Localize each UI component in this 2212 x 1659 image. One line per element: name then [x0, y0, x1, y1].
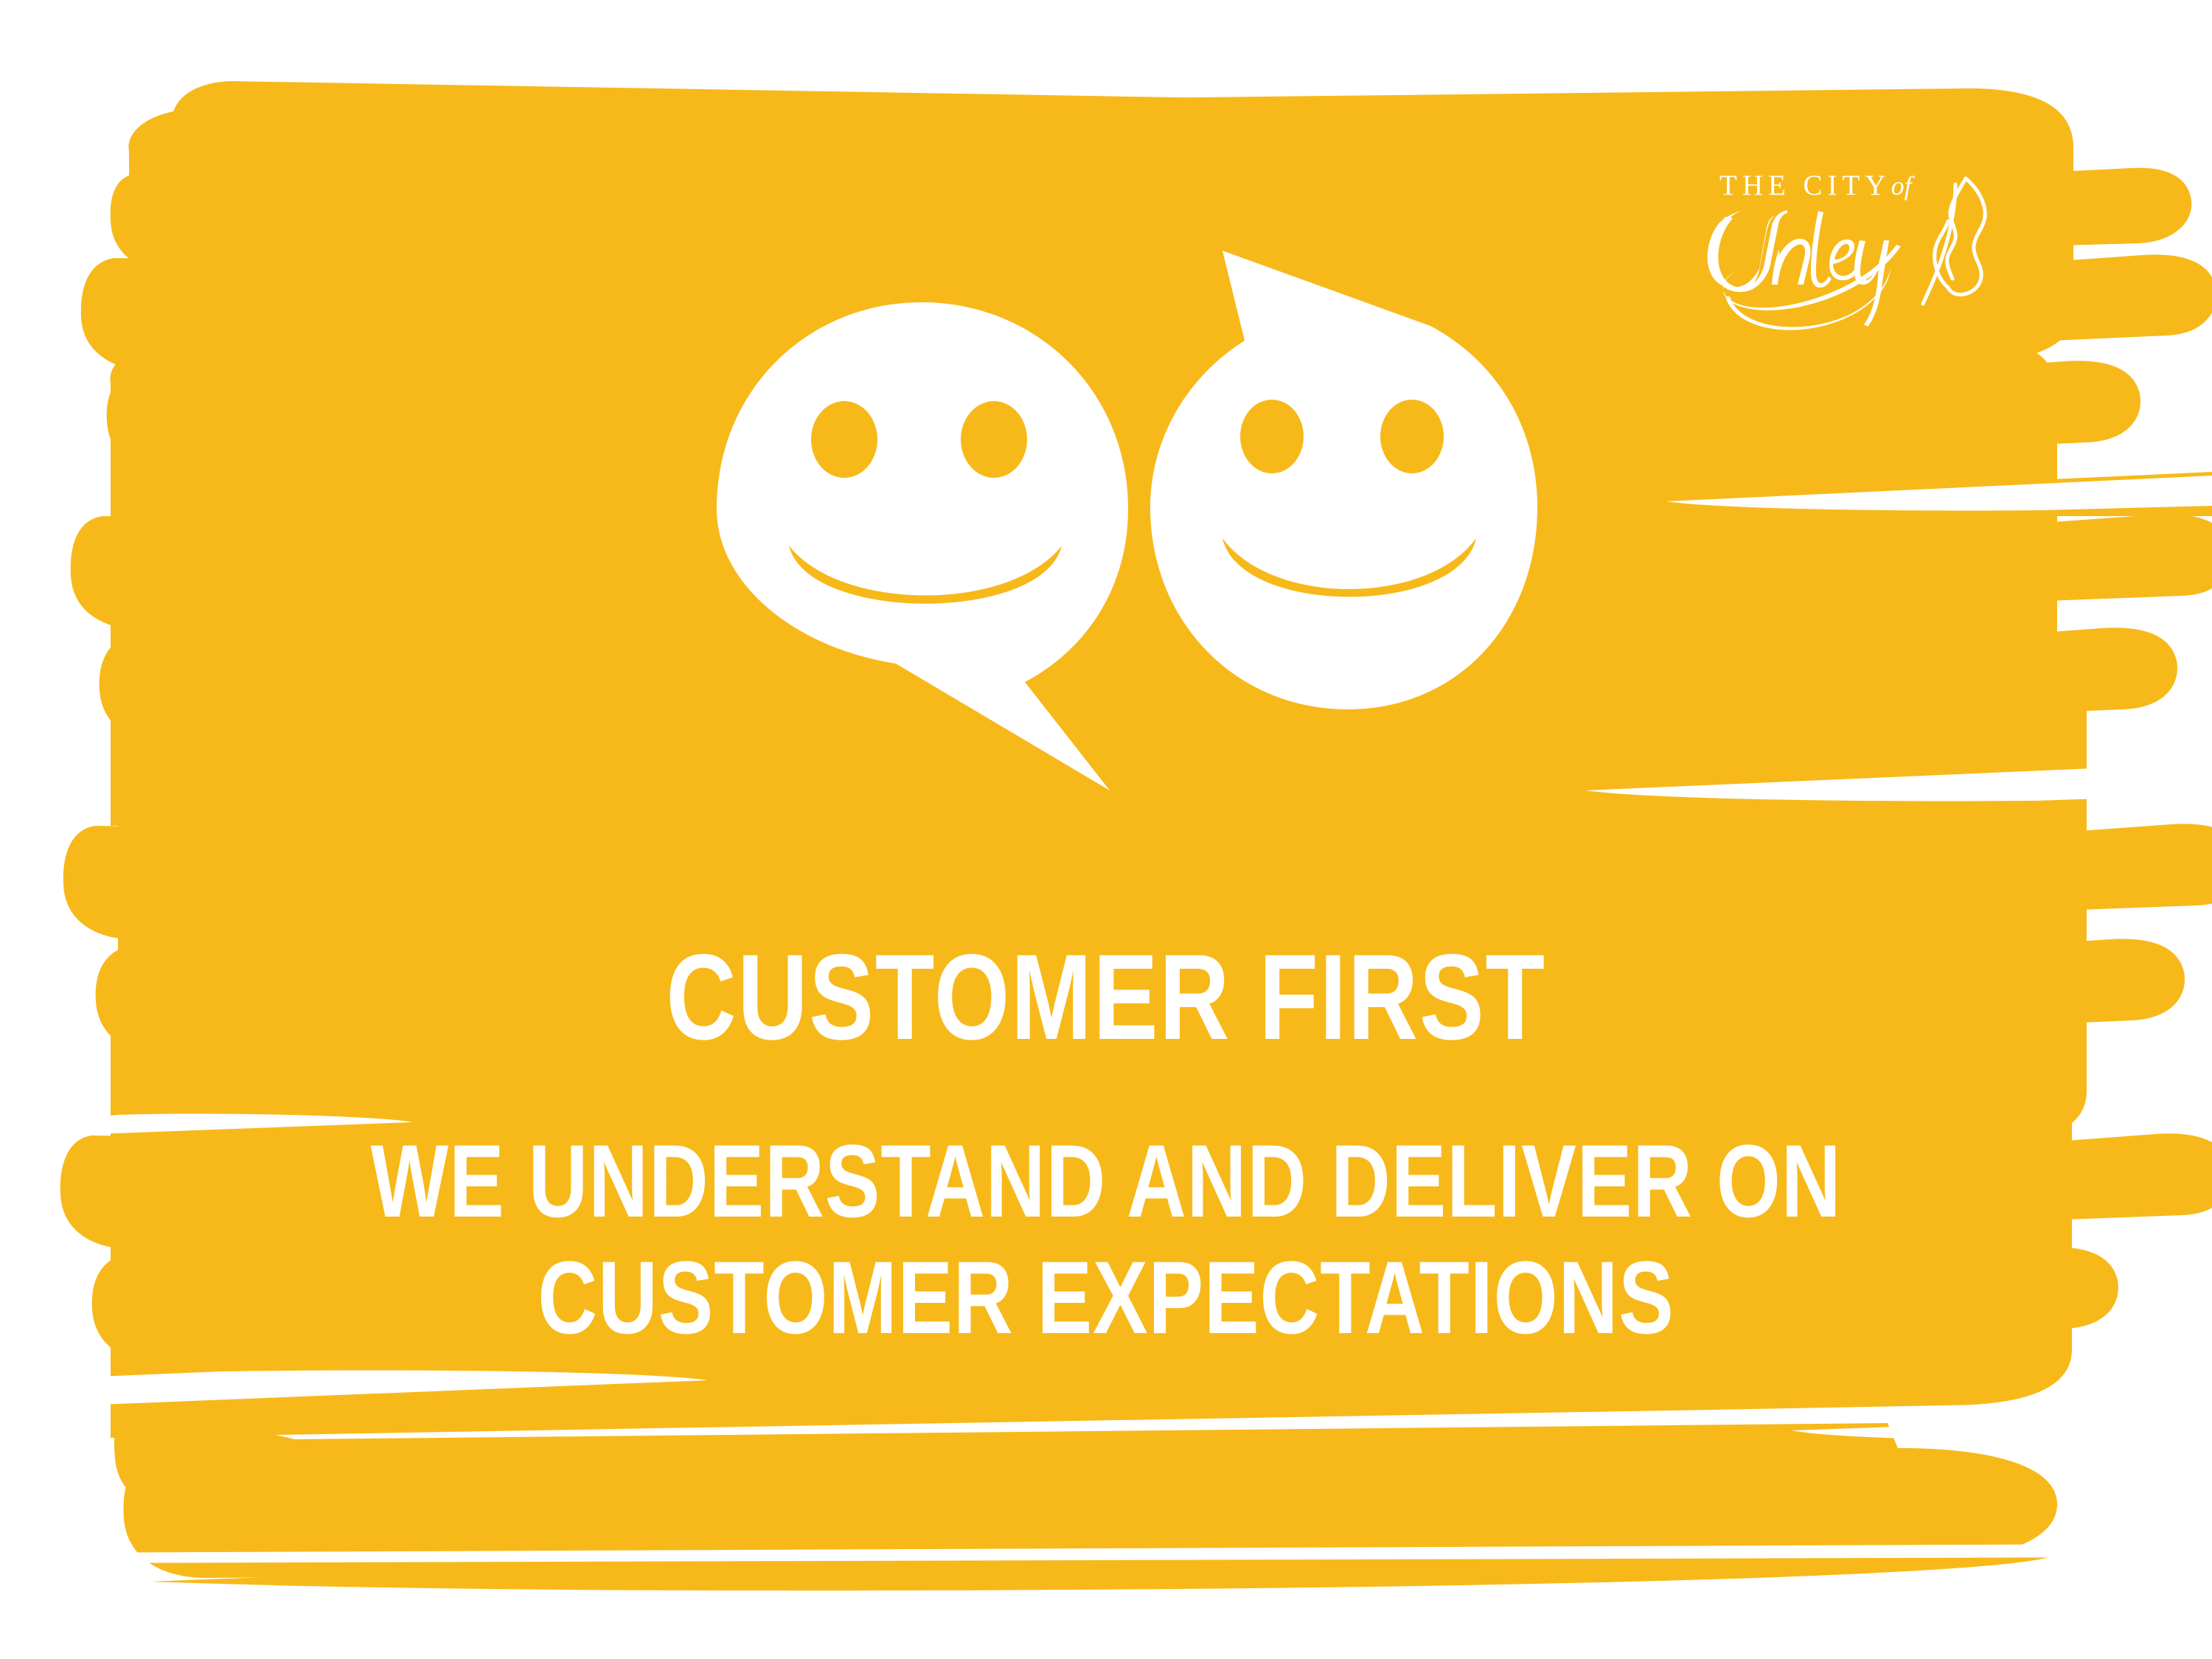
right-face-eye-left [1240, 400, 1304, 473]
logo-unley-wordmark [1703, 192, 1954, 361]
right-face-eye-right [1380, 400, 1444, 473]
subtitle-group: WE UNDERSTAND AND DELIVER ON CUSTOMER EX… [0, 1123, 2212, 1356]
right-smiley-face [1135, 243, 1548, 723]
city-of-unley-logo: THE CITYof [1703, 155, 2013, 376]
left-face-eye-right [961, 401, 1027, 478]
left-face-eye-left [811, 401, 877, 478]
subtitle-line-1: WE UNDERSTAND AND DELIVER ON [221, 1123, 1991, 1239]
flame-leaf-icon [1917, 173, 1998, 309]
subtitle-line-2: CUSTOMER EXPECTATIONS [221, 1239, 1991, 1356]
page-title: CUSTOMER FIRST [221, 936, 1991, 1058]
poster-canvas: THE CITYof [0, 0, 2212, 1659]
message-text-block: CUSTOMER FIRST WE UNDERSTAND AND DELIVER… [0, 936, 2212, 1356]
left-smiley-face [708, 295, 1150, 796]
artwork-layer: THE CITYof [0, 0, 2212, 1659]
